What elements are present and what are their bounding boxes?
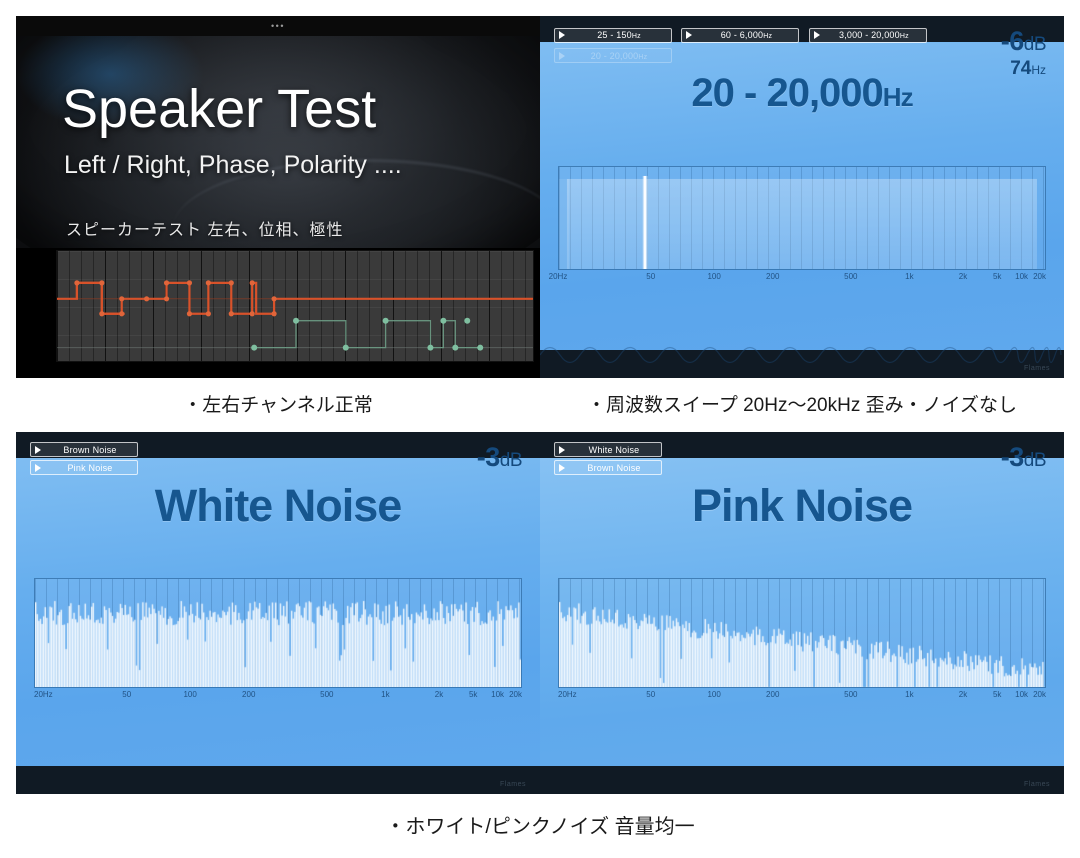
freq-button-unit: Hz (763, 33, 772, 40)
play-icon (35, 464, 41, 472)
freq-button-3000-20000[interactable]: 3,000 - 20,000Hz (809, 28, 927, 43)
pink-noise-panel[interactable]: White Noise Brown Noise -3dB Pink Noise … (540, 432, 1064, 794)
freq-button-20-20000-active[interactable]: 20 - 20,000Hz (554, 48, 672, 63)
page-subtitle: Left / Right, Phase, Polarity .... (64, 151, 402, 180)
noise-button-brown[interactable]: Brown Noise (554, 460, 662, 475)
top-caption-row: ・左右チャンネル正常 ・周波数スイープ 20Hz〜20kHz 歪み・ノイズなし (16, 384, 1064, 428)
level-unit: dB (1024, 34, 1046, 55)
white-noise-spectrum-bars (35, 579, 522, 688)
play-icon (559, 464, 565, 472)
freq-button-label: 60 - 6,000 (721, 30, 764, 40)
screenshot-page: ••• Speaker Test Left / Right, Phase, Po… (0, 0, 1080, 858)
pink-noise-title: Pink Noise (540, 480, 1064, 532)
noise-button-label: Brown Noise (573, 463, 655, 473)
freq-button-unit: Hz (638, 54, 647, 61)
automation-envelope-editor[interactable] (56, 250, 534, 362)
noise-button-label: White Noise (573, 445, 655, 455)
level-readout: -6dB (1001, 28, 1046, 55)
speaker-test-video-panel[interactable]: ••• Speaker Test Left / Right, Phase, Po… (16, 16, 540, 378)
level-unit: dB (1024, 450, 1046, 471)
bottom-caption-row: ・ホワイト/ピンクノイズ 音量均一 (16, 802, 1064, 852)
white-noise-buttons[interactable]: Brown Noise Pink Noise (30, 442, 143, 478)
caption-noise-level: ・ホワイト/ピンクノイズ 音量均一 (16, 802, 1064, 852)
play-icon (814, 31, 820, 39)
page-title: Speaker Test (62, 78, 376, 140)
level-unit: dB (500, 450, 522, 471)
white-noise-frequency-axis: 20Hz 50 100 200 500 1k 2k 5k 10k 20k (34, 690, 522, 703)
app-brand-logo: Flames (1024, 365, 1050, 372)
noise-button-brown[interactable]: Brown Noise (30, 442, 138, 457)
frequency-range-buttons[interactable]: 25 - 150Hz 60 - 6,000Hz 3,000 - 20,000Hz… (554, 26, 932, 67)
sweep-frequency-axis: 20Hz 50 100 200 500 1k 2k 5k 10k 20k (558, 272, 1046, 285)
caption-left-right-channel: ・左右チャンネル正常 (16, 384, 540, 428)
freq-button-label: 20 - 20,000 (591, 51, 639, 61)
pink-noise-buttons[interactable]: White Noise Brown Noise (554, 442, 667, 478)
level-readout: -3dB (1001, 444, 1046, 471)
freq-button-label: 25 - 150 (597, 30, 632, 40)
noise-button-label: Brown Noise (49, 445, 131, 455)
video-topbar: ••• (16, 16, 540, 36)
white-noise-panel[interactable]: Brown Noise Pink Noise -3dB White Noise … (16, 432, 540, 794)
app-brand-logo: Flames (500, 781, 526, 788)
freq-button-25-150[interactable]: 25 - 150Hz (554, 28, 672, 43)
letterbox-bottom (540, 766, 1064, 794)
play-icon (35, 446, 41, 454)
sweep-spectrum-bars (559, 167, 1045, 270)
envelope-curves (57, 251, 533, 362)
app-brand-logo: Flames (1024, 781, 1050, 788)
noise-button-white[interactable]: White Noise (554, 442, 662, 457)
top-panel-row: ••• Speaker Test Left / Right, Phase, Po… (16, 16, 1064, 378)
frequency-sweep-panel[interactable]: 25 - 150Hz 60 - 6,000Hz 3,000 - 20,000Hz… (540, 16, 1064, 378)
sweep-range-title: 20 - 20,000Hz (540, 71, 1064, 116)
decorative-waveform (540, 338, 1064, 372)
level-readout: -3dB (477, 444, 522, 471)
noise-button-label: Pink Noise (49, 463, 131, 473)
page-subtitle-japanese: スピーカーテスト 左右、位相、極性 (66, 216, 343, 240)
white-noise-readout: -3dB (477, 444, 522, 471)
white-noise-title: White Noise (16, 480, 540, 532)
white-noise-spectrum-display (34, 578, 522, 688)
freq-button-label: 3,000 - 20,000 (839, 30, 900, 40)
freq-button-60-6000[interactable]: 60 - 6,000Hz (681, 28, 799, 43)
pink-noise-frequency-axis: 20Hz 50 100 200 500 1k 2k 5k 10k 20k (558, 690, 1046, 703)
freq-button-unit: Hz (632, 33, 641, 40)
play-icon (559, 52, 565, 60)
play-icon (559, 446, 565, 454)
bottom-panel-row: Brown Noise Pink Noise -3dB White Noise … (16, 432, 1064, 798)
overflow-menu-icon[interactable]: ••• (271, 23, 285, 29)
pink-noise-spectrum-display (558, 578, 1046, 688)
pink-noise-spectrum-bars (559, 579, 1046, 688)
letterbox-bottom (16, 766, 540, 794)
play-icon (686, 31, 692, 39)
play-icon (559, 31, 565, 39)
sweep-spectrum-display (558, 166, 1046, 270)
caption-frequency-sweep: ・周波数スイープ 20Hz〜20kHz 歪み・ノイズなし (540, 384, 1064, 428)
video-bottombar (16, 362, 540, 378)
noise-button-pink[interactable]: Pink Noise (30, 460, 138, 475)
freq-button-unit: Hz (900, 33, 909, 40)
pink-noise-readout: -3dB (1001, 444, 1046, 471)
